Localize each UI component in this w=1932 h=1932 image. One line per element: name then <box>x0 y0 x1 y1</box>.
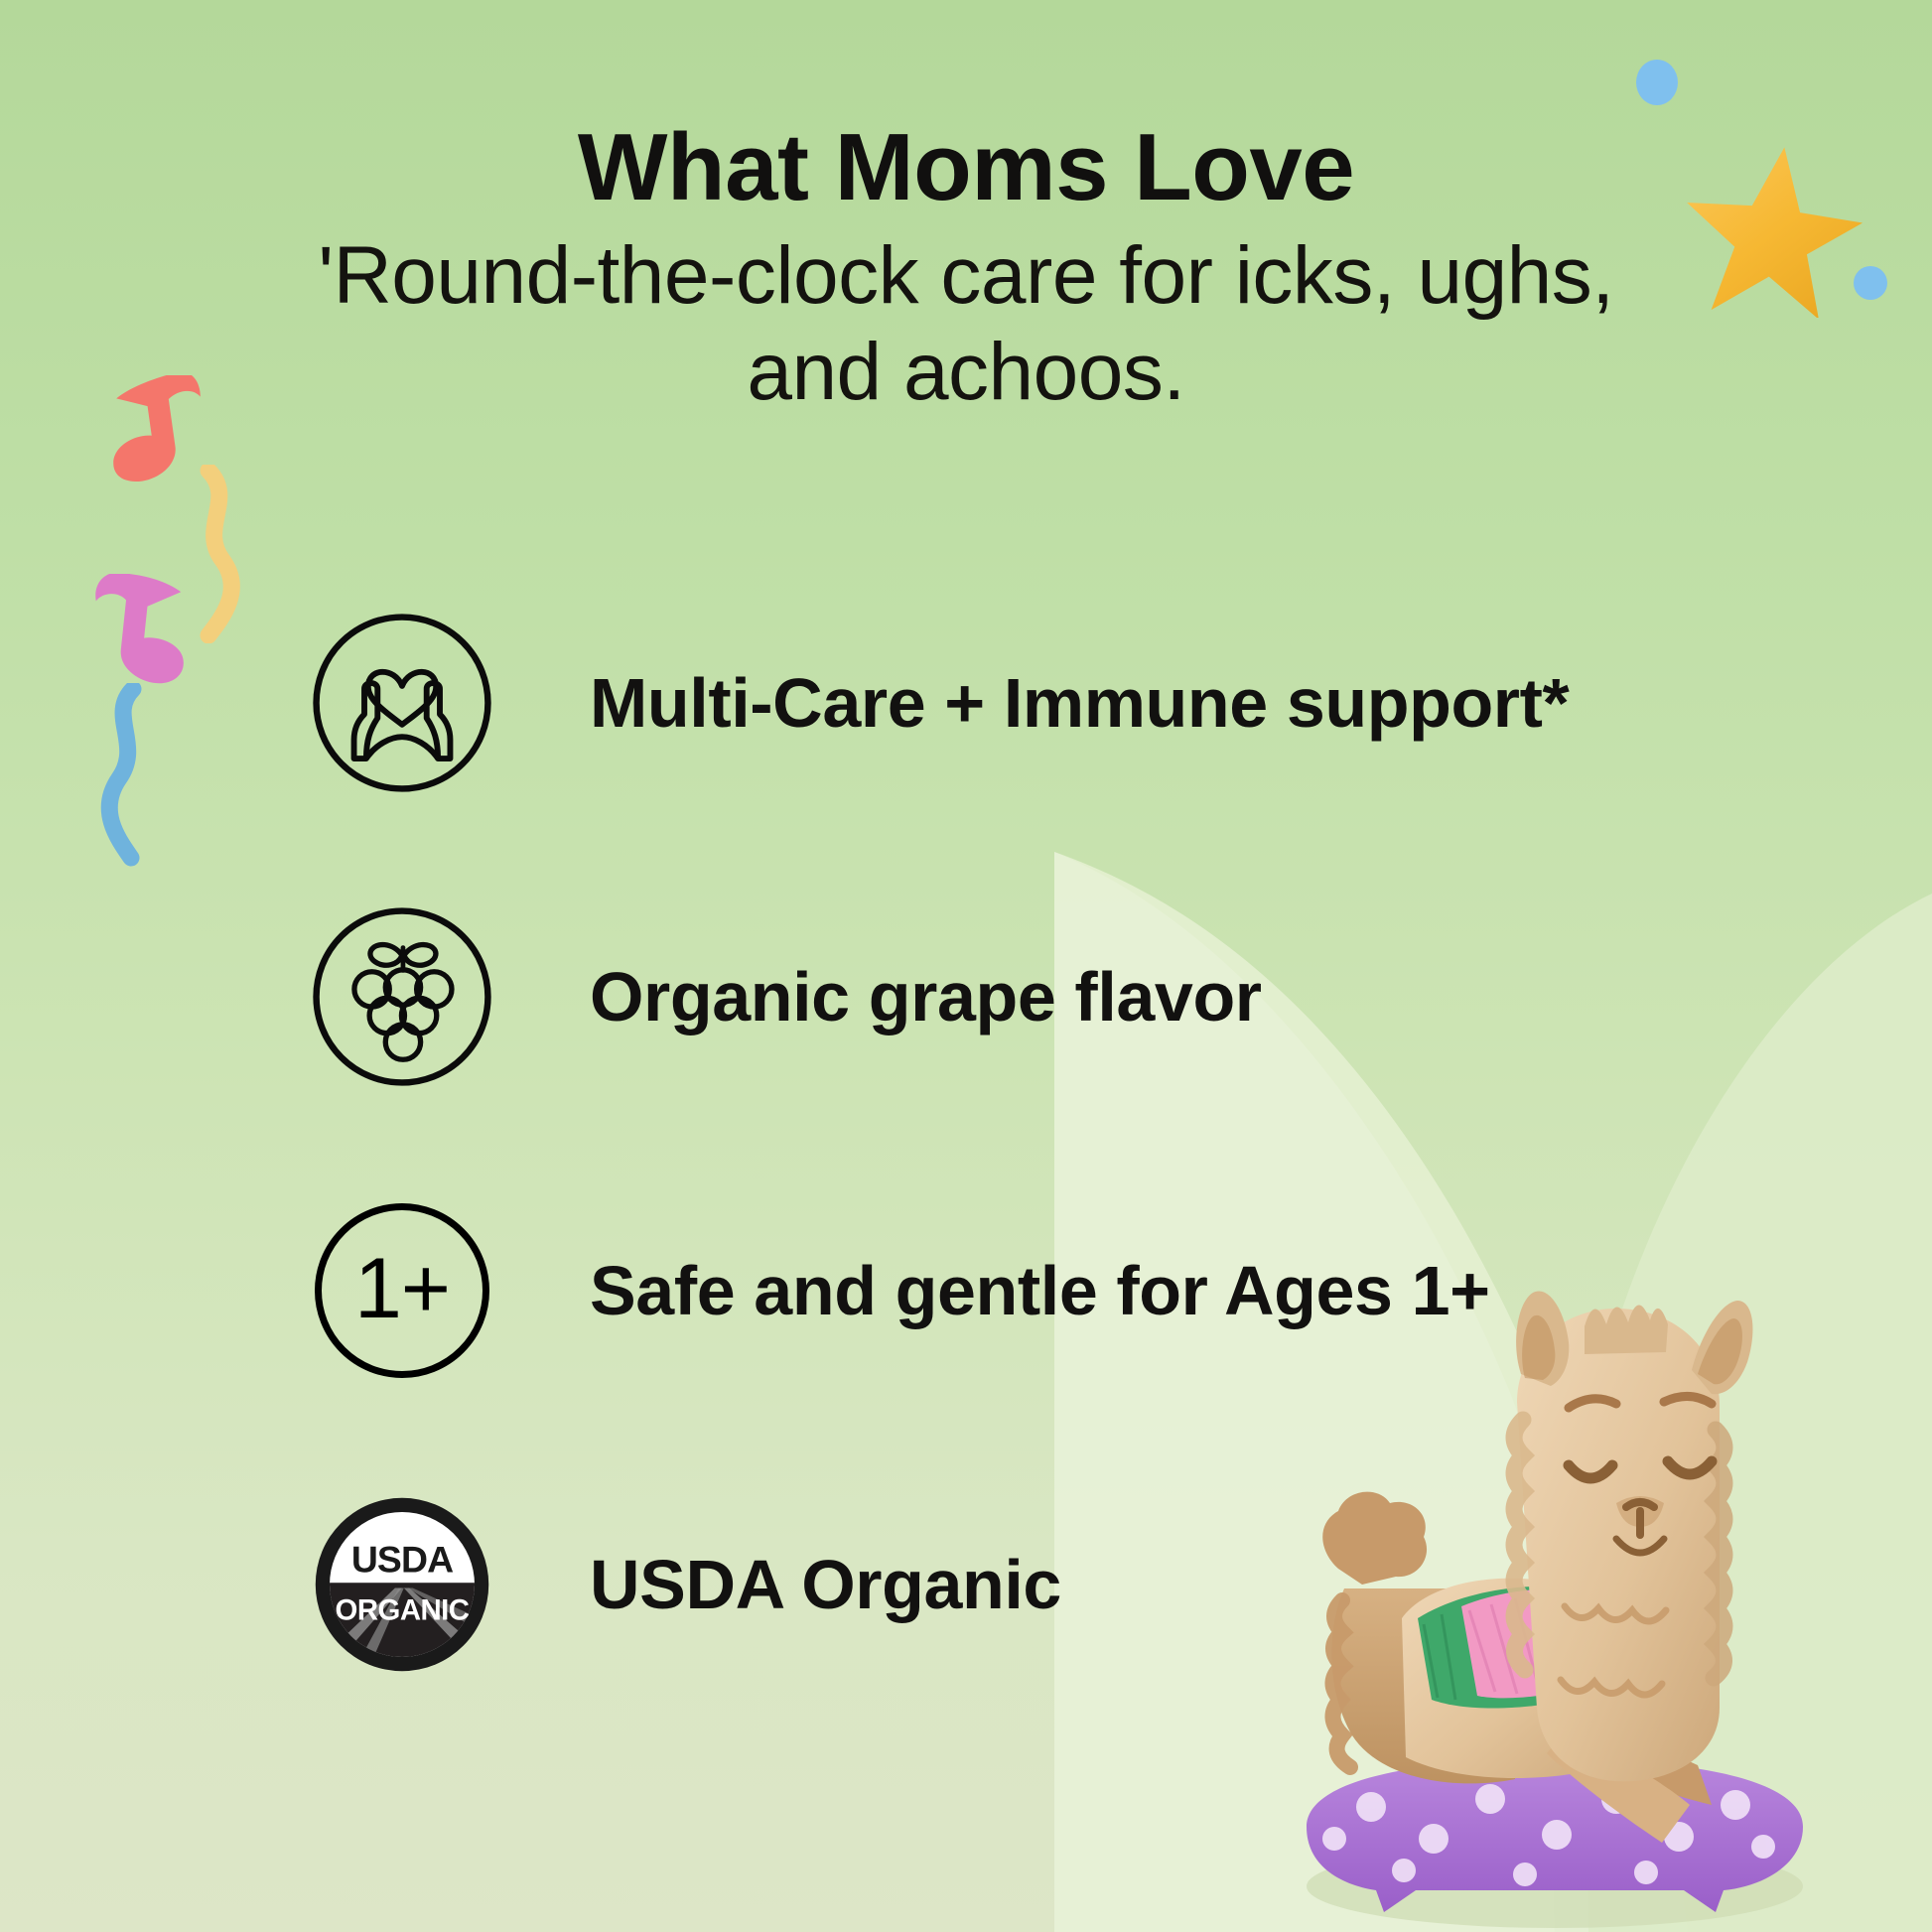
usda-organic-seal-icon: USDA ORGANIC <box>308 1490 496 1679</box>
feature-row: Multi-Care + Immune support* <box>308 604 1857 802</box>
music-note-icon <box>60 574 218 710</box>
page-subtitle: 'Round-the-clock care for icks, ughs, an… <box>0 228 1932 421</box>
feature-label: USDA Organic <box>590 1545 1061 1624</box>
age-badge-circle: 1+ <box>315 1203 489 1378</box>
feature-row: 1+ Safe and gentle for Ages 1+ <box>308 1191 1857 1390</box>
feature-row: USDA ORGANIC USDA Organic <box>308 1485 1857 1684</box>
heading-block: What Moms Love 'Round-the-clock care for… <box>0 117 1932 420</box>
hands-holding-heart-icon <box>308 609 496 797</box>
llama-leg-front <box>1547 1727 1690 1843</box>
feature-label: Safe and gentle for Ages 1+ <box>590 1251 1490 1330</box>
cushion-dots <box>1322 1784 1775 1886</box>
squiggle-icon <box>189 465 278 648</box>
feature-list: Multi-Care + Immune support* <box>308 604 1857 1684</box>
age-1-plus-icon: 1+ <box>308 1196 496 1385</box>
cushion <box>1307 1759 1803 1912</box>
squiggle-icon <box>71 683 161 872</box>
feature-label: Organic grape flavor <box>590 957 1262 1036</box>
feature-label: Multi-Care + Immune support* <box>590 663 1569 743</box>
usda-seal-top-text: USDA <box>351 1539 453 1581</box>
usda-seal-bottom-text: ORGANIC <box>336 1594 470 1627</box>
page-title: What Moms Love <box>0 117 1932 218</box>
grape-cluster-icon <box>308 902 496 1091</box>
promo-poster: What Moms Love 'Round-the-clock care for… <box>0 0 1932 1932</box>
age-badge-text: 1+ <box>354 1246 450 1331</box>
llama-leg-back <box>1585 1725 1712 1805</box>
feature-row: Organic grape flavor <box>308 897 1857 1096</box>
